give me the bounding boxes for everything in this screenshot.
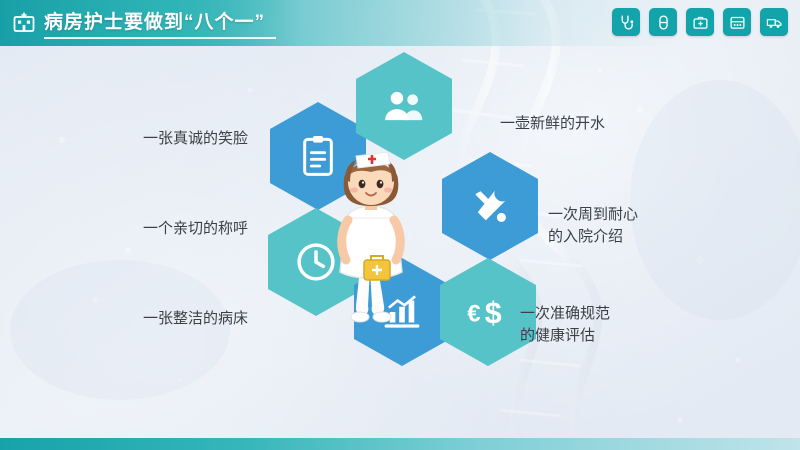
label-call: 一个亲切的称呼: [143, 218, 248, 240]
label-assess: 一次准确规范 的健康评估: [520, 303, 610, 347]
svg-text:€: €: [467, 301, 480, 328]
people-icon: [382, 86, 426, 126]
dollar-icon: € $: [464, 292, 512, 332]
hex-tools[interactable]: [442, 152, 538, 260]
tools-icon: [469, 185, 511, 227]
ambulance-icon[interactable]: [760, 8, 788, 36]
header-bar: 病房护士要做到“八个一”: [0, 0, 800, 46]
label-assess-line1: 一次准确规范: [520, 303, 610, 325]
nurse-mascot: [316, 140, 426, 330]
pill-icon[interactable]: [649, 8, 677, 36]
label-smile: 一张真诚的笑脸: [143, 128, 248, 150]
medical-bag-icon[interactable]: [686, 8, 714, 36]
label-bed: 一张整洁的病床: [143, 308, 248, 330]
title-underline: [44, 37, 276, 39]
label-assess-line2: 的健康评估: [520, 325, 610, 347]
svg-text:$: $: [485, 296, 502, 330]
hospital-icon: [12, 11, 36, 35]
label-intro-line1: 一次周到耐心: [548, 204, 638, 226]
header-icon-group: [612, 8, 788, 36]
label-intro: 一次周到耐心 的入院介绍: [548, 204, 638, 248]
stethoscope-icon[interactable]: [612, 8, 640, 36]
page-title: 病房护士要做到“八个一”: [44, 10, 265, 36]
first-aid-kit-icon[interactable]: [723, 8, 751, 36]
label-intro-line2: 的入院介绍: [548, 226, 638, 248]
label-water: 一壶新鲜的开水: [500, 113, 605, 135]
slide: 病房护士要做到“八个一”: [0, 0, 800, 450]
footer-bar: [0, 438, 800, 450]
